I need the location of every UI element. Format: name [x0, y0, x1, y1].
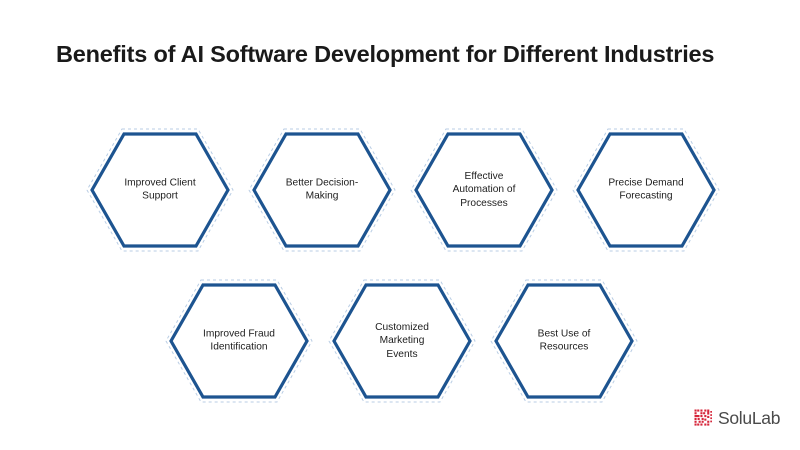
hex-label: Improved Client Support	[108, 177, 212, 204]
hex-node-best-use-of-resources[interactable]: Best Use of Resources	[488, 275, 640, 407]
hex-label: Customized Marketing Events	[350, 321, 454, 361]
solulab-logo[interactable]: SoluLab	[694, 409, 780, 428]
hex-node-better-decision-making[interactable]: Better Decision- Making	[246, 124, 398, 256]
hex-label: Improved Fraud Identification	[187, 328, 291, 355]
hex-label: Effective Automation of Processes	[432, 170, 536, 210]
logo-wordmark: SoluLab	[718, 409, 780, 428]
hexagon-cluster-diagram: Improved Client Support Better Decision-…	[0, 0, 800, 450]
hex-label: Best Use of Resources	[512, 328, 616, 355]
qr-code-icon	[694, 409, 713, 428]
hex-label: Precise Demand Forecasting	[594, 177, 698, 204]
hex-node-improved-fraud-identification[interactable]: Improved Fraud Identification	[163, 275, 315, 407]
hex-node-precise-demand-forecasting[interactable]: Precise Demand Forecasting	[570, 124, 722, 256]
hex-node-improved-client-support[interactable]: Improved Client Support	[84, 124, 236, 256]
slide-canvas: Benefits of AI Software Development for …	[0, 0, 800, 450]
hex-label: Better Decision- Making	[270, 177, 374, 204]
hex-node-customized-marketing-events[interactable]: Customized Marketing Events	[326, 275, 478, 407]
hex-node-effective-automation-of-processes[interactable]: Effective Automation of Processes	[408, 124, 560, 256]
